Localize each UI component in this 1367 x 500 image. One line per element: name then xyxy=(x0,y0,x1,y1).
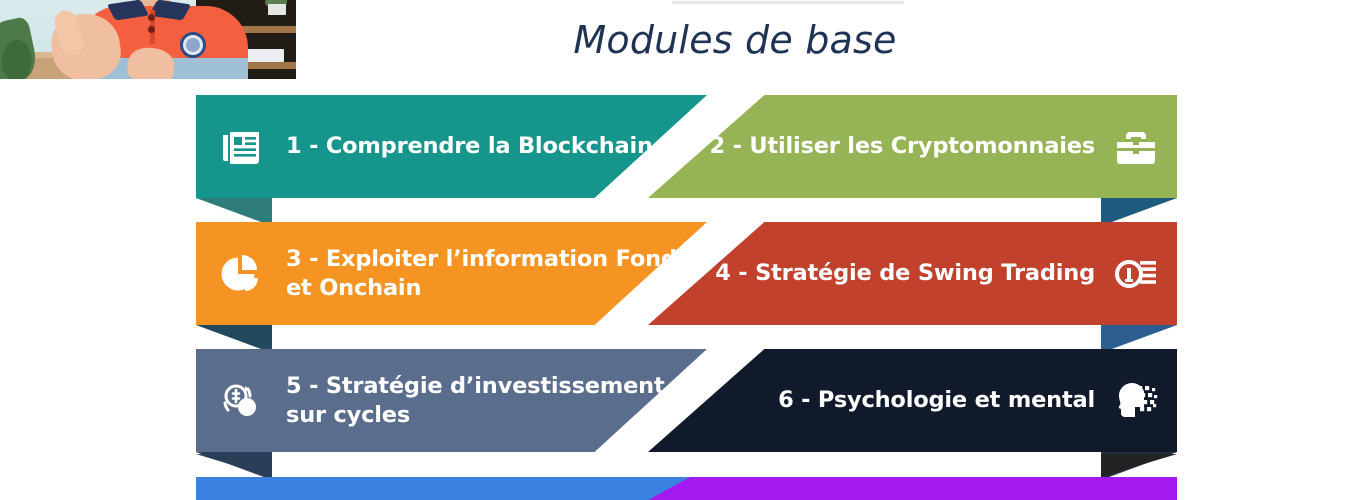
briefcase-icon xyxy=(1109,120,1163,174)
module-label: 1 - Comprendre la Blockchain xyxy=(286,132,653,160)
module-card-5[interactable]: 5 - Stratégie d’investissement sur cycle… xyxy=(196,349,707,452)
module-list: 1 - Comprendre la Blockchain 2 - Utilise… xyxy=(0,0,1367,500)
module-card-1[interactable]: 1 - Comprendre la Blockchain xyxy=(196,95,707,198)
module-row: 3 - Exploiter l’information Fonda et Onc… xyxy=(0,222,1367,325)
module-card-6[interactable]: 6 - Psychologie et mental xyxy=(648,349,1177,452)
pie-chart-icon xyxy=(214,247,268,301)
module-card-4[interactable]: 4 - Stratégie de Swing Trading xyxy=(648,222,1177,325)
module-fold-tab xyxy=(196,454,272,477)
module-card-7[interactable] xyxy=(196,477,707,500)
module-label: 4 - Stratégie de Swing Trading xyxy=(715,259,1095,287)
module-card-2[interactable]: 2 - Utiliser les Cryptomonnaies xyxy=(648,95,1177,198)
module-label: 2 - Utiliser les Cryptomonnaies xyxy=(710,132,1096,160)
module-fold-tab xyxy=(1101,454,1177,477)
coin-cycle-icon xyxy=(214,374,268,428)
head-pixels-icon xyxy=(1109,374,1163,428)
module-label: 5 - Stratégie d’investissement sur cycle… xyxy=(286,372,707,428)
module-row: 1 - Comprendre la Blockchain 2 - Utilise… xyxy=(0,95,1367,198)
module-row xyxy=(0,477,1367,500)
module-card-8[interactable] xyxy=(648,477,1177,500)
module-row: 5 - Stratégie d’investissement sur cycle… xyxy=(0,349,1367,452)
newspaper-icon xyxy=(214,120,268,174)
coins-icon xyxy=(1109,247,1163,301)
module-card-3[interactable]: 3 - Exploiter l’information Fonda et Onc… xyxy=(196,222,707,325)
module-label: 3 - Exploiter l’information Fonda et Onc… xyxy=(286,245,707,301)
presentation-slide: Modules de base xyxy=(0,0,1367,500)
module-label: 6 - Psychologie et mental xyxy=(778,386,1095,414)
